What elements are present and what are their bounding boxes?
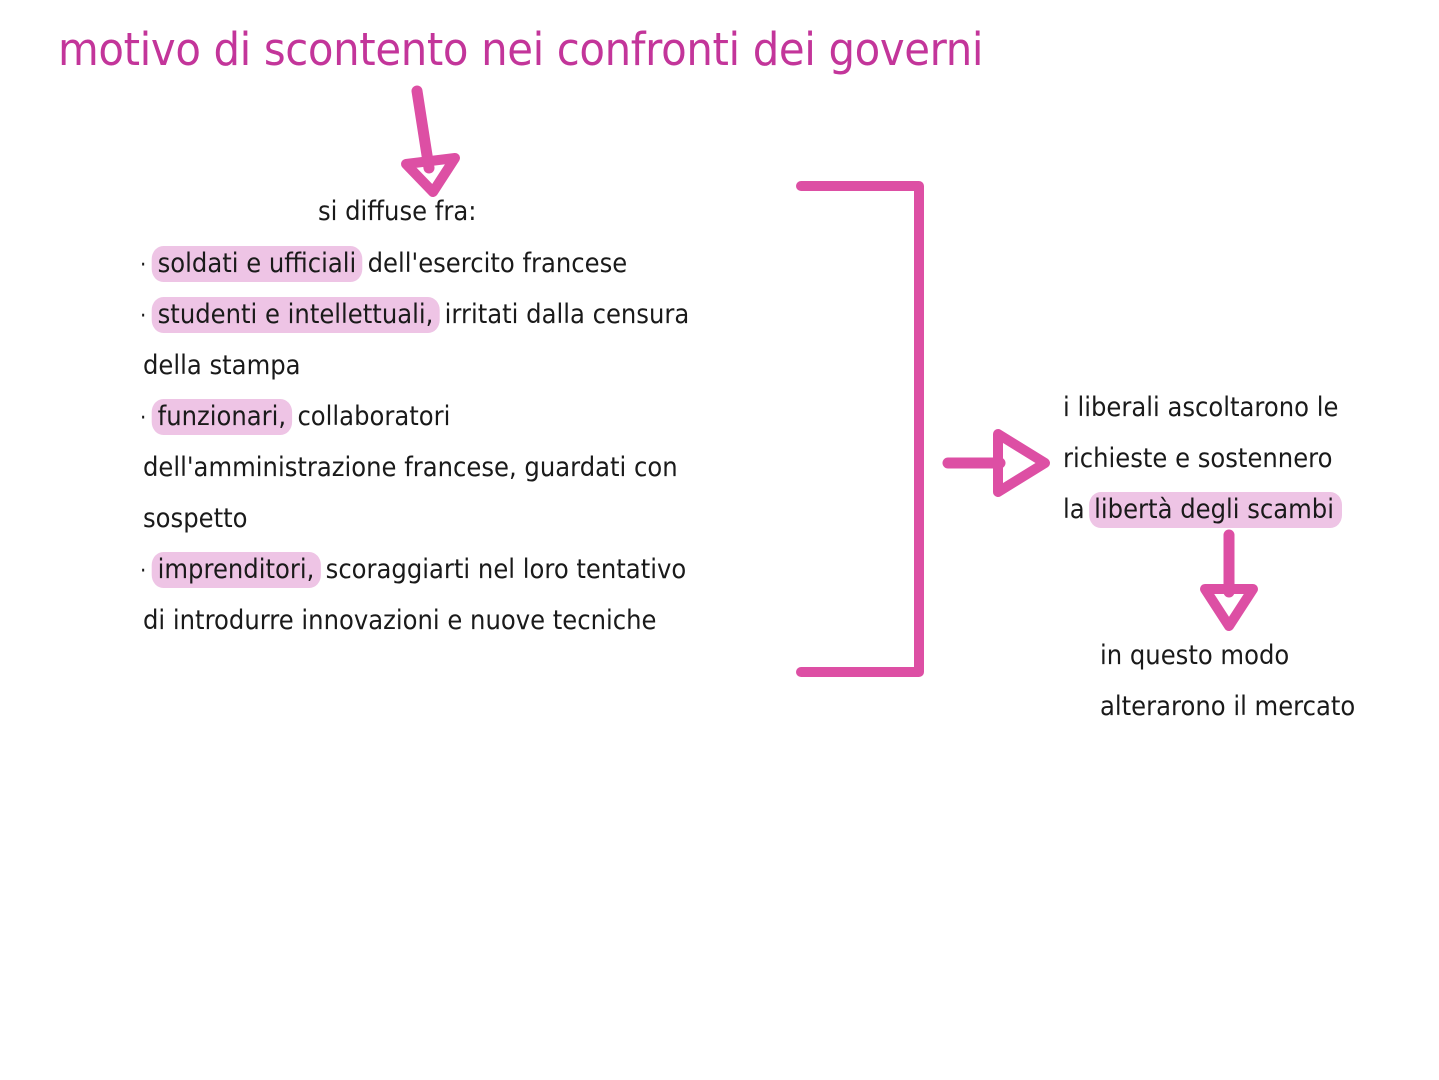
highlighted-term: studenti e intellettuali, <box>151 297 439 333</box>
outcome-line: in questo modo <box>1100 630 1289 681</box>
item-continuation: della stampa <box>143 340 301 391</box>
list-grouping-bracket-icon <box>801 186 919 672</box>
item-continuation: di introdurre innovazioni e nuove tecnic… <box>143 595 656 646</box>
bracket-to-conclusion-arrow-icon <box>948 434 1045 492</box>
highlighted-term: imprenditori, <box>151 552 320 588</box>
item-continuation: sospetto <box>143 493 247 544</box>
list-item: · studenti e intellettuali, irritati dal… <box>140 289 689 342</box>
highlighted-term: funzionari, <box>151 399 292 435</box>
bullet-glyph: · <box>140 253 146 278</box>
highlighted-term: soldati e ufficiali <box>151 246 362 282</box>
list-item: · funzionari, collaboratori <box>140 391 450 444</box>
list-intro-label: si diffuse fra: <box>318 186 476 237</box>
conclusion-to-outcome-arrow-icon <box>1205 535 1253 626</box>
item-text: scoraggiarti nel loro tentativo <box>318 554 686 585</box>
conclusion-line: la libertà degli scambi <box>1063 484 1338 535</box>
outcome-line: alterarono il mercato <box>1100 681 1355 732</box>
bullet-glyph: · <box>140 559 146 584</box>
item-text: collaboratori <box>290 401 451 432</box>
item-continuation: dell'amministrazione francese, guardati … <box>143 442 678 493</box>
bullet-glyph: · <box>140 304 146 329</box>
conclusion-text: la <box>1063 494 1092 525</box>
item-text: irritati dalla censura <box>437 299 689 330</box>
list-item: · soldati e ufficiali dell'esercito fran… <box>140 238 627 291</box>
bullet-glyph: · <box>140 406 146 431</box>
item-text: dell'esercito francese <box>360 248 627 279</box>
page-title: motivo di scontento nei confronti dei go… <box>58 22 983 78</box>
note-canvas: motivo di scontento nei confronti dei go… <box>0 0 1439 1080</box>
highlighted-term: libertà degli scambi <box>1089 492 1342 528</box>
title-to-list-arrow-icon <box>406 91 455 192</box>
conclusion-line: i liberali ascoltarono le <box>1063 382 1338 433</box>
conclusion-line: richieste e sostennero <box>1063 433 1332 484</box>
list-item: · imprenditori, scoraggiarti nel loro te… <box>140 544 686 597</box>
